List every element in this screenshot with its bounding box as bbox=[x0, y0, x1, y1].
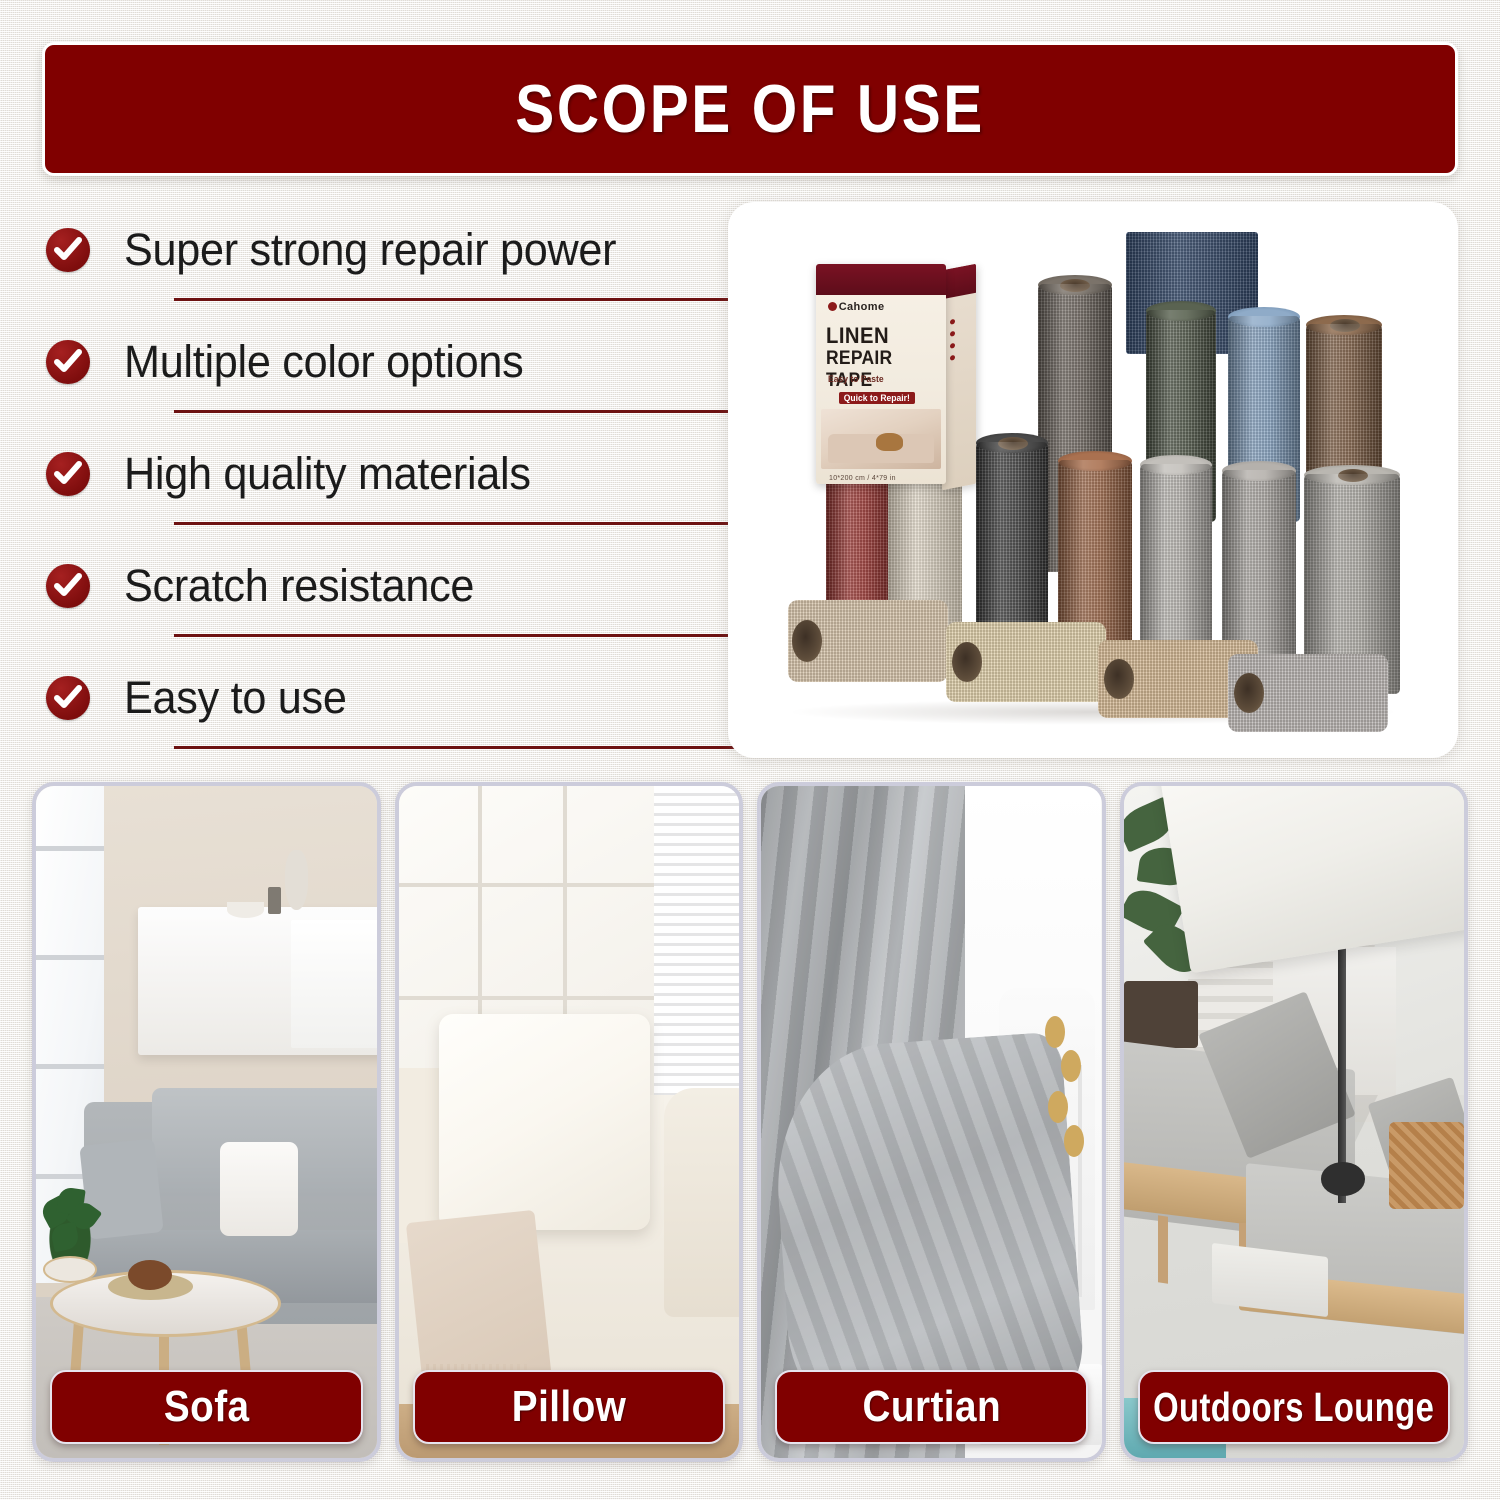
feature-item-5: Easy to use bbox=[46, 648, 706, 748]
scene-card-outdoors-lounge[interactable]: Outdoors Lounge bbox=[1120, 782, 1469, 1462]
check-circle-icon bbox=[46, 564, 90, 608]
product-package-box: Cahome LINEN REPAIR TAPE Easy to Paste Q… bbox=[816, 264, 946, 484]
box-title-line2: REPAIR TAPE bbox=[826, 348, 936, 392]
brand-logo: Cahome bbox=[828, 301, 885, 313]
box-title-line1: LINEN bbox=[826, 323, 889, 349]
box-lifestyle-photo bbox=[821, 409, 941, 468]
box-tagline-1: Easy to Paste bbox=[828, 374, 884, 384]
scene-card-row: Sofa bbox=[32, 782, 1468, 1462]
tape-roll-cream-lying bbox=[788, 600, 948, 682]
scene-card-pillow[interactable]: Pillow bbox=[395, 782, 744, 1462]
tape-roll-silver-grey-lying bbox=[1228, 654, 1388, 732]
scene-label-pillow: Pillow bbox=[413, 1370, 726, 1444]
feature-divider bbox=[174, 522, 736, 525]
check-circle-icon bbox=[46, 228, 90, 272]
check-circle-icon bbox=[46, 340, 90, 384]
page-title: SCOPE OF USE bbox=[515, 70, 985, 148]
product-image-panel: Cahome LINEN REPAIR TAPE Easy to Paste Q… bbox=[728, 202, 1458, 758]
feature-label: Multiple color options bbox=[124, 336, 523, 388]
feature-label: Super strong repair power bbox=[124, 224, 616, 276]
header-banner: SCOPE OF USE bbox=[42, 42, 1458, 176]
scene-label-curtain: Curtian bbox=[775, 1370, 1088, 1444]
sofa-scene-image bbox=[36, 786, 377, 1458]
box-dimensions: 10*200 cm / 4*79 in bbox=[829, 475, 896, 482]
feature-label: Scratch resistance bbox=[124, 560, 474, 612]
scene-label-outdoors-lounge: Outdoors Lounge bbox=[1138, 1370, 1451, 1444]
feature-list: Super strong repair power Multiple color… bbox=[46, 200, 706, 760]
feature-item-4: Scratch resistance bbox=[46, 536, 706, 636]
feature-item-1: Super strong repair power bbox=[46, 200, 706, 300]
box-side-panel bbox=[942, 264, 976, 491]
box-tagline-2: Quick to Repair! bbox=[839, 392, 915, 404]
pillow-scene-image bbox=[399, 786, 740, 1458]
check-circle-icon bbox=[46, 676, 90, 720]
box-front-panel: Cahome LINEN REPAIR TAPE Easy to Paste Q… bbox=[816, 264, 946, 484]
feature-divider bbox=[174, 634, 736, 637]
feature-label: High quality materials bbox=[124, 448, 531, 500]
curtain-scene-image bbox=[761, 786, 1102, 1458]
outdoors-lounge-scene-image bbox=[1124, 786, 1465, 1458]
infographic-page: SCOPE OF USE Super strong repair power M… bbox=[0, 0, 1500, 1500]
check-circle-icon bbox=[46, 452, 90, 496]
feature-item-3: High quality materials bbox=[46, 424, 706, 524]
scene-card-curtain[interactable]: Curtian bbox=[757, 782, 1106, 1462]
scene-label-sofa: Sofa bbox=[50, 1370, 363, 1444]
tape-roll-pale-yellow-lying bbox=[946, 622, 1106, 702]
feature-divider bbox=[174, 298, 736, 301]
scene-card-sofa[interactable]: Sofa bbox=[32, 782, 381, 1462]
product-photo: Cahome LINEN REPAIR TAPE Easy to Paste Q… bbox=[728, 202, 1458, 758]
feature-label: Easy to use bbox=[124, 672, 347, 724]
feature-divider bbox=[174, 746, 736, 749]
feature-item-2: Multiple color options bbox=[46, 312, 706, 412]
box-feature-bullets bbox=[950, 308, 972, 367]
feature-divider bbox=[174, 410, 736, 413]
